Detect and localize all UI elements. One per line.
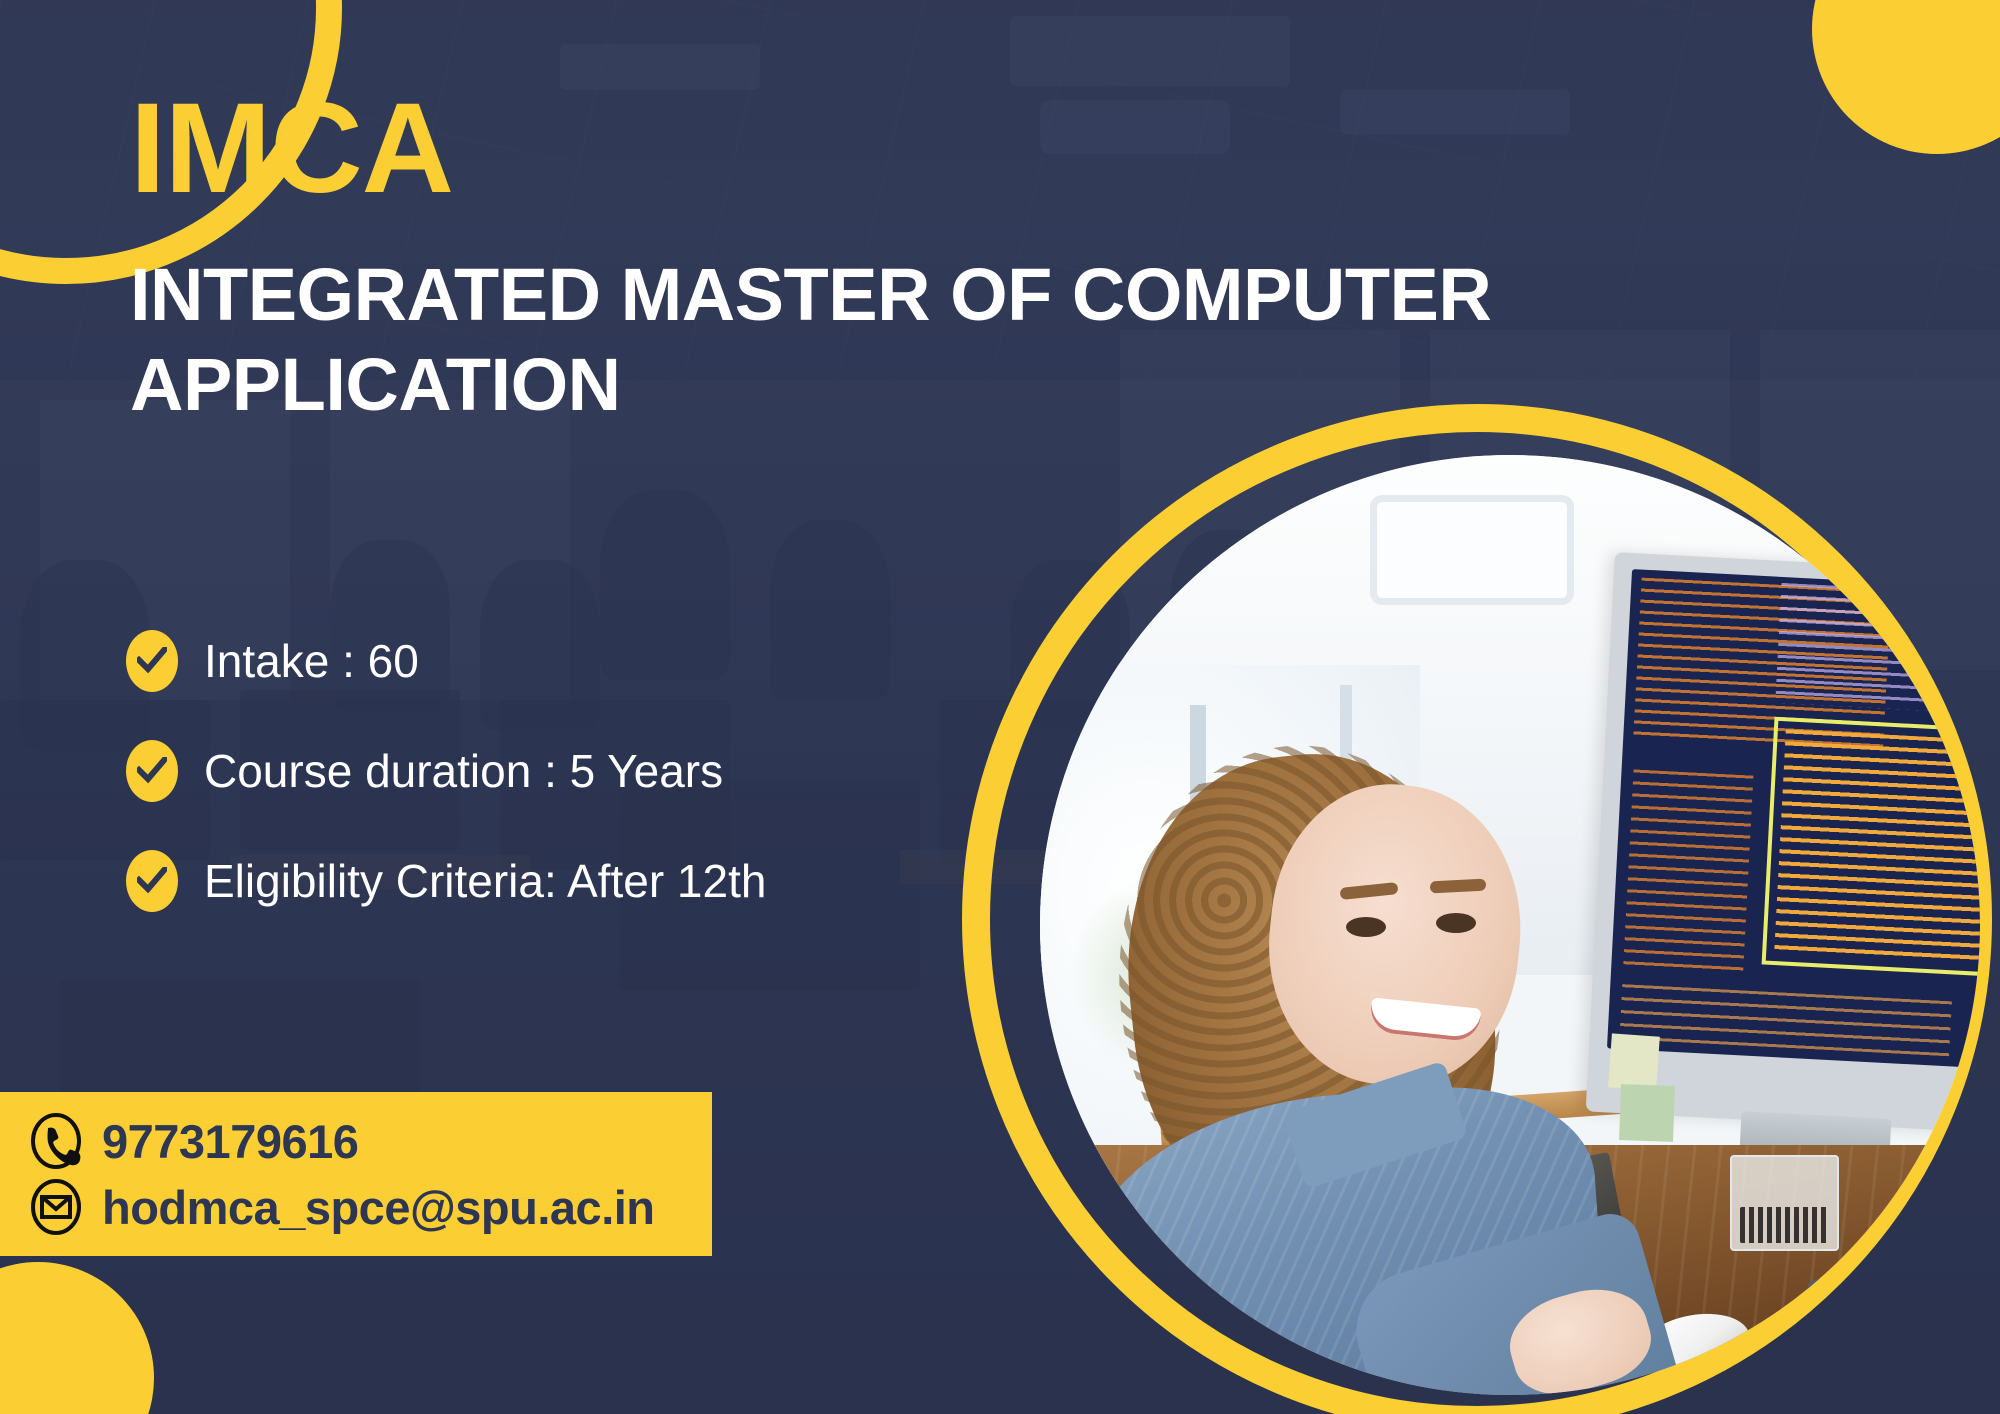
contact-phone-number: 9773179616 <box>102 1118 358 1165</box>
list-item: Eligibility Criteria: After 12th <box>126 850 1086 912</box>
phone-icon <box>30 1112 82 1170</box>
check-circle-icon <box>126 850 178 912</box>
contact-email-address: hodmca_spce@spu.ac.in <box>102 1184 655 1231</box>
envelope-icon <box>30 1178 82 1236</box>
poster-content: IMCA INTEGRATED MASTER OF COMPUTER APPLI… <box>0 0 2000 1414</box>
contact-phone-row[interactable]: 9773179616 <box>30 1112 712 1170</box>
check-circle-icon <box>126 740 178 802</box>
list-item: Course duration : 5 Years <box>126 740 1086 802</box>
list-item-label: Eligibility Criteria: After 12th <box>204 856 766 907</box>
feature-list: Intake : 60 Course duration : 5 Years El… <box>126 630 1086 960</box>
contact-email-row[interactable]: hodmca_spce@spu.ac.in <box>30 1178 712 1236</box>
list-item-label: Intake : 60 <box>204 636 419 687</box>
page-title-acronym: IMCA <box>130 85 453 213</box>
list-item-label: Course duration : 5 Years <box>204 746 723 797</box>
list-item: Intake : 60 <box>126 630 1086 692</box>
contact-bar: 9773179616 hodmca_spce@spu.ac.in <box>0 1092 712 1256</box>
poster-banner: IMCA INTEGRATED MASTER OF COMPUTER APPLI… <box>0 0 2000 1414</box>
page-title-full: INTEGRATED MASTER OF COMPUTER APPLICATIO… <box>130 250 1770 431</box>
check-circle-icon <box>126 630 178 692</box>
